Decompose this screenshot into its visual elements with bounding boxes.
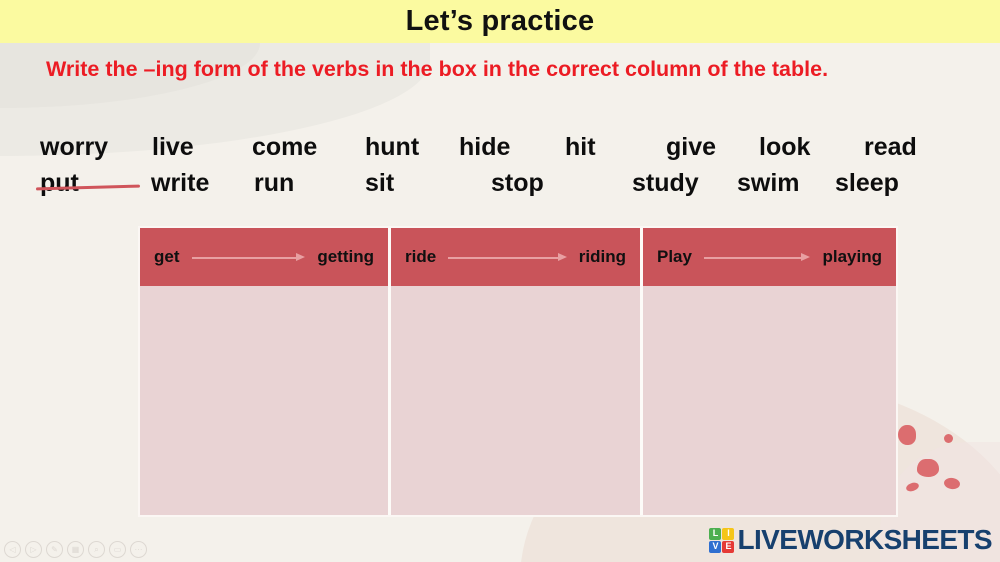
- arrow-right-icon: [704, 252, 811, 263]
- word-put[interactable]: put: [40, 169, 151, 198]
- word-stop[interactable]: stop: [491, 169, 632, 198]
- fullscreen-button[interactable]: ▭: [109, 541, 126, 558]
- word-bank-row-1: worry live come hunt hide hit give look …: [40, 133, 970, 169]
- word-look[interactable]: look: [759, 133, 864, 162]
- example-ing-verb-1: getting: [317, 247, 374, 267]
- decorative-blob: [944, 434, 953, 443]
- layout-button[interactable]: ▦: [67, 541, 84, 558]
- logo-tile-v: V: [709, 541, 721, 553]
- answer-cell-column-3[interactable]: [643, 286, 896, 515]
- logo-tile-l: L: [709, 528, 721, 540]
- example-base-verb-1: get: [154, 247, 180, 267]
- table-header-row: get getting ride riding Play playing: [140, 228, 896, 286]
- word-write[interactable]: write: [151, 169, 254, 198]
- table-header-cell-2: ride riding: [391, 228, 643, 286]
- word-worry[interactable]: worry: [40, 133, 152, 162]
- arrow-right-icon: [192, 252, 306, 263]
- example-ing-verb-3: playing: [822, 247, 882, 267]
- table-header-cell-1: get getting: [140, 228, 391, 286]
- word-read[interactable]: read: [864, 133, 917, 162]
- table-body-row: [140, 286, 896, 515]
- play-button[interactable]: ▷: [25, 541, 42, 558]
- word-study[interactable]: study: [632, 169, 737, 198]
- liveworksheets-logo[interactable]: L I V E LIVEWORKSHEETS: [709, 524, 992, 556]
- word-hunt[interactable]: hunt: [365, 133, 459, 162]
- word-sleep[interactable]: sleep: [835, 169, 899, 198]
- previous-button[interactable]: ◁: [4, 541, 21, 558]
- player-controls: ◁ ▷ ✎ ▦ ⌕ ▭ ···: [4, 541, 147, 558]
- decorative-blob: [917, 459, 939, 477]
- answer-cell-column-1[interactable]: [140, 286, 391, 515]
- word-give[interactable]: give: [666, 133, 759, 162]
- table-header-cell-3: Play playing: [643, 228, 896, 286]
- logo-tile-e: E: [722, 541, 734, 553]
- word-sit[interactable]: sit: [365, 169, 491, 198]
- zoom-button[interactable]: ⌕: [88, 541, 105, 558]
- word-swim[interactable]: swim: [737, 169, 835, 198]
- example-base-verb-3: Play: [657, 247, 692, 267]
- page-title: Let’s practice: [406, 5, 595, 38]
- more-button[interactable]: ···: [130, 541, 147, 558]
- title-banner: Let’s practice: [0, 0, 1000, 43]
- answer-cell-column-2[interactable]: [391, 286, 643, 515]
- word-put-label: put: [40, 169, 79, 197]
- word-come[interactable]: come: [252, 133, 365, 162]
- example-ing-verb-2: riding: [579, 247, 626, 267]
- word-hit[interactable]: hit: [565, 133, 666, 162]
- logo-wordmark: LIVEWORKSHEETS: [737, 524, 992, 556]
- word-bank: worry live come hunt hide hit give look …: [40, 133, 970, 205]
- example-base-verb-2: ride: [405, 247, 436, 267]
- verb-table: get getting ride riding Play playing: [140, 228, 896, 515]
- word-bank-row-2: put write run sit stop study swim sleep: [40, 169, 970, 205]
- decorative-blob: [898, 425, 916, 445]
- logo-tile-grid: L I V E: [709, 528, 734, 553]
- logo-tile-i: I: [722, 528, 734, 540]
- instruction-text: Write the –ing form of the verbs in the …: [46, 55, 966, 83]
- draw-button[interactable]: ✎: [46, 541, 63, 558]
- word-hide[interactable]: hide: [459, 133, 565, 162]
- arrow-right-icon: [448, 252, 567, 263]
- word-run[interactable]: run: [254, 169, 365, 198]
- word-live[interactable]: live: [152, 133, 252, 162]
